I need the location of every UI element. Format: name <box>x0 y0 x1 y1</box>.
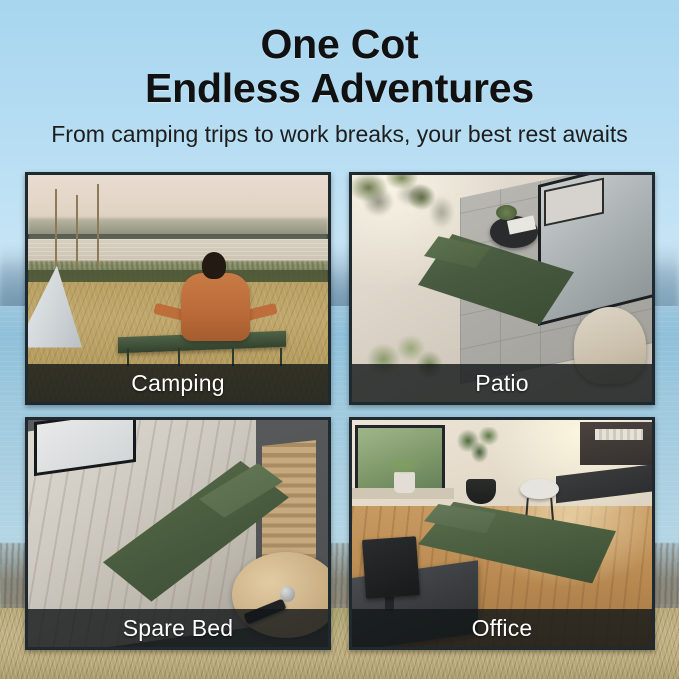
camping-tree-icon <box>97 184 99 266</box>
subtitle: From camping trips to work breaks, your … <box>0 121 679 148</box>
panel-label: Patio <box>475 370 528 397</box>
office-books <box>595 429 643 440</box>
panel-spare-bed[interactable]: Spare Bed <box>25 417 331 650</box>
panel-label: Camping <box>131 370 224 397</box>
camping-cot-leg <box>178 348 180 366</box>
camping-tree-icon <box>55 189 57 266</box>
office-plant-pot <box>466 479 496 504</box>
panel-camping[interactable]: Camping <box>25 172 331 405</box>
header: One Cot Endless Adventures From camping … <box>0 0 679 148</box>
use-case-grid: Camping Patio <box>25 172 655 650</box>
camping-person-head <box>202 252 226 279</box>
headline-line-1: One Cot <box>0 22 679 66</box>
panel-caption-camping: Camping <box>28 364 328 402</box>
panel-caption-patio: Patio <box>352 364 652 402</box>
panel-label: Spare Bed <box>123 615 234 642</box>
panel-caption-office: Office <box>352 609 652 647</box>
camping-cot-leg <box>280 348 282 366</box>
headline-line-2: Endless Adventures <box>0 66 679 110</box>
patio-foliage <box>352 175 436 220</box>
patio-potted-plant <box>496 205 517 221</box>
panel-label: Office <box>472 615 533 642</box>
camping-tree-icon <box>76 195 78 265</box>
camping-cot-leg <box>232 348 234 366</box>
panel-patio[interactable]: Patio <box>349 172 655 405</box>
panel-caption-spare-bed: Spare Bed <box>28 609 328 647</box>
headline: One Cot Endless Adventures <box>0 22 679 110</box>
camping-cot-leg <box>127 348 129 366</box>
panel-office[interactable]: Office <box>349 417 655 650</box>
office-potted-plant <box>394 472 415 492</box>
office-monitor <box>362 536 420 599</box>
camping-person-body <box>181 273 250 341</box>
